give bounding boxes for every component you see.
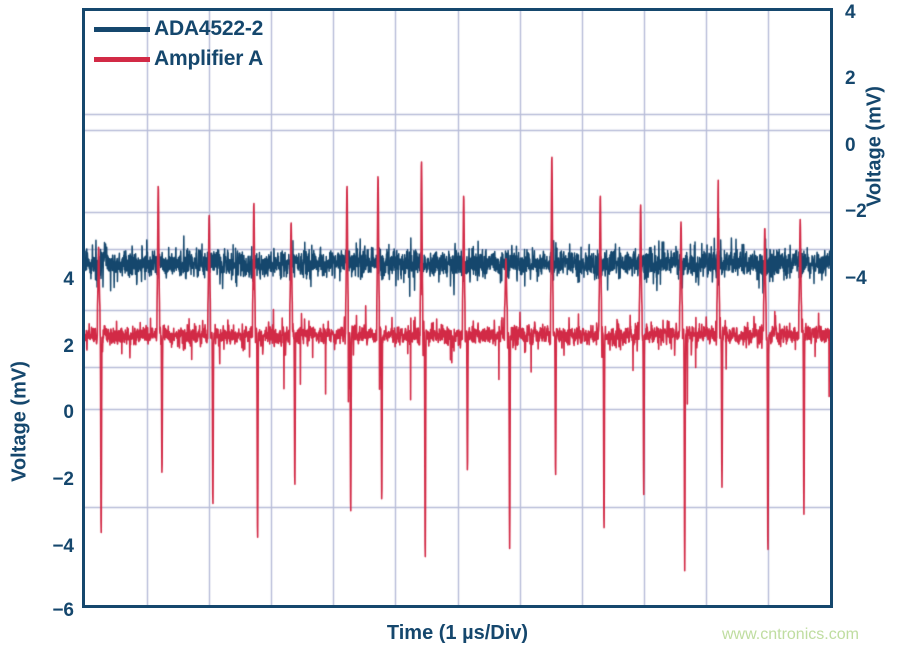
y-axis-left-title: Voltage (mV) xyxy=(9,342,32,502)
y-axis-right-title: Voltage (mV) xyxy=(864,67,887,227)
waveform-traces xyxy=(85,11,830,605)
legend-swatch-ada4522-2 xyxy=(94,27,150,32)
y-right-tick-neg4: −4 xyxy=(845,269,867,288)
y-left-tick-neg4: −4 xyxy=(52,537,74,556)
y-right-tick-0: 0 xyxy=(845,136,856,155)
y-left-tick-neg6: −6 xyxy=(52,601,74,620)
legend-label-amplifier-a: Amplifier A xyxy=(154,47,263,71)
legend-swatch-amplifier-a xyxy=(94,57,150,62)
x-axis-title: Time (1 µs/Div) xyxy=(82,622,833,645)
chart-root: ADA4522-2 Amplifier A 4 2 0 −2 −4 −6 4 2… xyxy=(0,0,906,650)
y-right-tick-4: 4 xyxy=(845,3,856,22)
y-axis-left-ticks: 4 2 0 −2 −4 −6 xyxy=(26,0,74,650)
legend: ADA4522-2 Amplifier A xyxy=(94,14,263,74)
y-left-tick-4: 4 xyxy=(63,270,74,289)
y-left-tick-0: 0 xyxy=(63,403,74,422)
legend-item-amplifier-a: Amplifier A xyxy=(94,44,263,74)
y-left-tick-2: 2 xyxy=(63,337,74,356)
watermark: www.cntronics.com xyxy=(722,626,859,644)
y-left-tick-neg2: −2 xyxy=(52,470,74,489)
y-right-tick-2: 2 xyxy=(845,69,856,88)
plot-area xyxy=(82,8,833,608)
legend-item-ada4522-2: ADA4522-2 xyxy=(94,14,263,44)
legend-label-ada4522-2: ADA4522-2 xyxy=(154,17,263,41)
